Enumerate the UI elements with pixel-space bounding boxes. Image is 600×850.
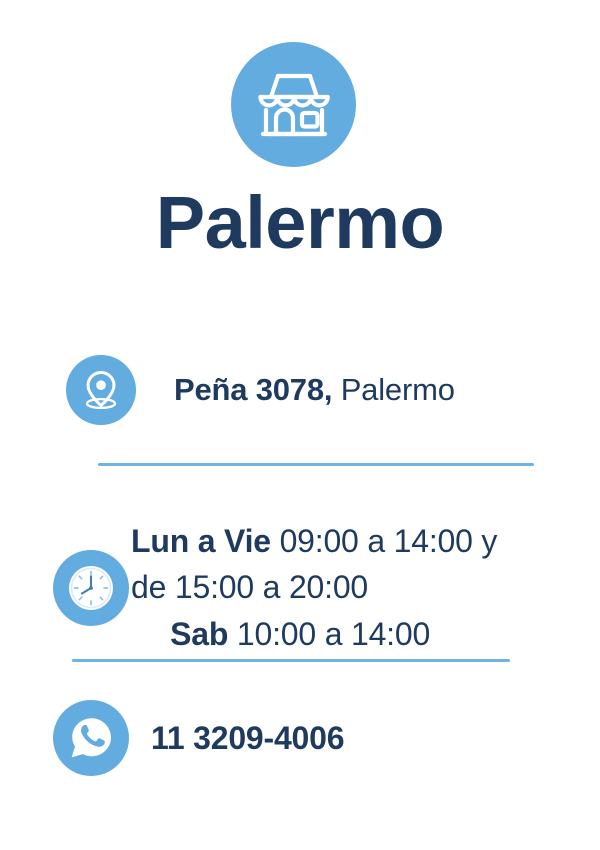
hours-line-afternoon: de 15:00 a 20:00 xyxy=(131,564,497,610)
hours-weekday-times: 09:00 a 14:00 y xyxy=(271,523,497,559)
phone-number[interactable]: 11 3209-4006 xyxy=(151,717,344,760)
address-street: Peña 3078, xyxy=(174,372,332,407)
whatsapp-icon-badge[interactable] xyxy=(53,700,129,776)
phone-row[interactable]: 11 3209-4006 xyxy=(53,700,344,776)
hours-text: Lun a Vie 09:00 a 14:00 y de 15:00 a 20:… xyxy=(131,518,497,657)
hours-weekday-label: Lun a Vie xyxy=(131,523,271,559)
whatsapp-icon xyxy=(66,713,116,763)
address-text: Peña 3078, Palermo xyxy=(174,369,455,410)
clock-icon xyxy=(65,562,117,614)
hours-line-saturday: Sab 10:00 a 14:00 xyxy=(131,611,497,657)
map-pin-icon xyxy=(81,369,121,411)
address-row: Peña 3078, Palermo xyxy=(66,355,455,425)
divider-address-hours xyxy=(98,463,534,466)
address-neighborhood: Palermo xyxy=(332,372,454,407)
store-info-card: Palermo Peña 3078, Palermo xyxy=(0,0,600,850)
hours-line-weekday: Lun a Vie 09:00 a 14:00 y xyxy=(131,518,497,564)
divider-hours-phone xyxy=(72,659,510,662)
storefront-icon xyxy=(257,70,331,140)
page-title: Palermo xyxy=(0,186,600,260)
storefront-logo-badge xyxy=(231,42,356,167)
hours-saturday-label: Sab xyxy=(170,616,228,652)
map-pin-icon-badge xyxy=(66,355,136,425)
hours-saturday-times: 10:00 a 14:00 xyxy=(228,616,430,652)
hours-row: Lun a Vie 09:00 a 14:00 y de 15:00 a 20:… xyxy=(53,518,497,657)
clock-icon-badge xyxy=(53,550,129,626)
